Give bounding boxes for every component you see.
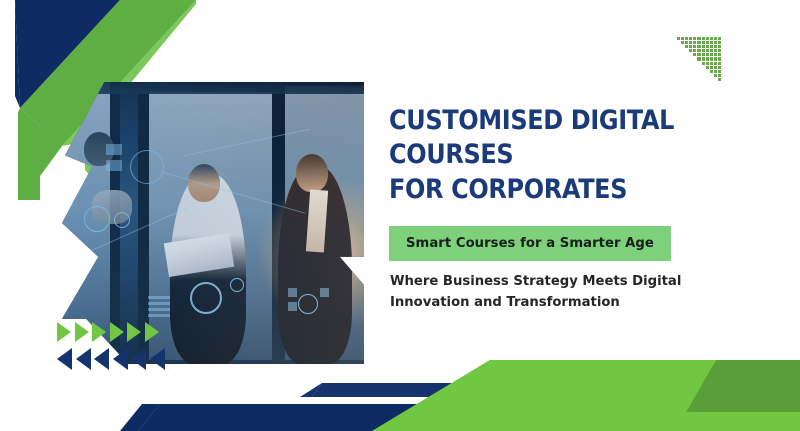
bottom-band-decoration — [0, 0, 800, 431]
marketing-banner: CUSTOMISED DIGITAL COURSES FOR CORPORATE… — [0, 0, 800, 431]
